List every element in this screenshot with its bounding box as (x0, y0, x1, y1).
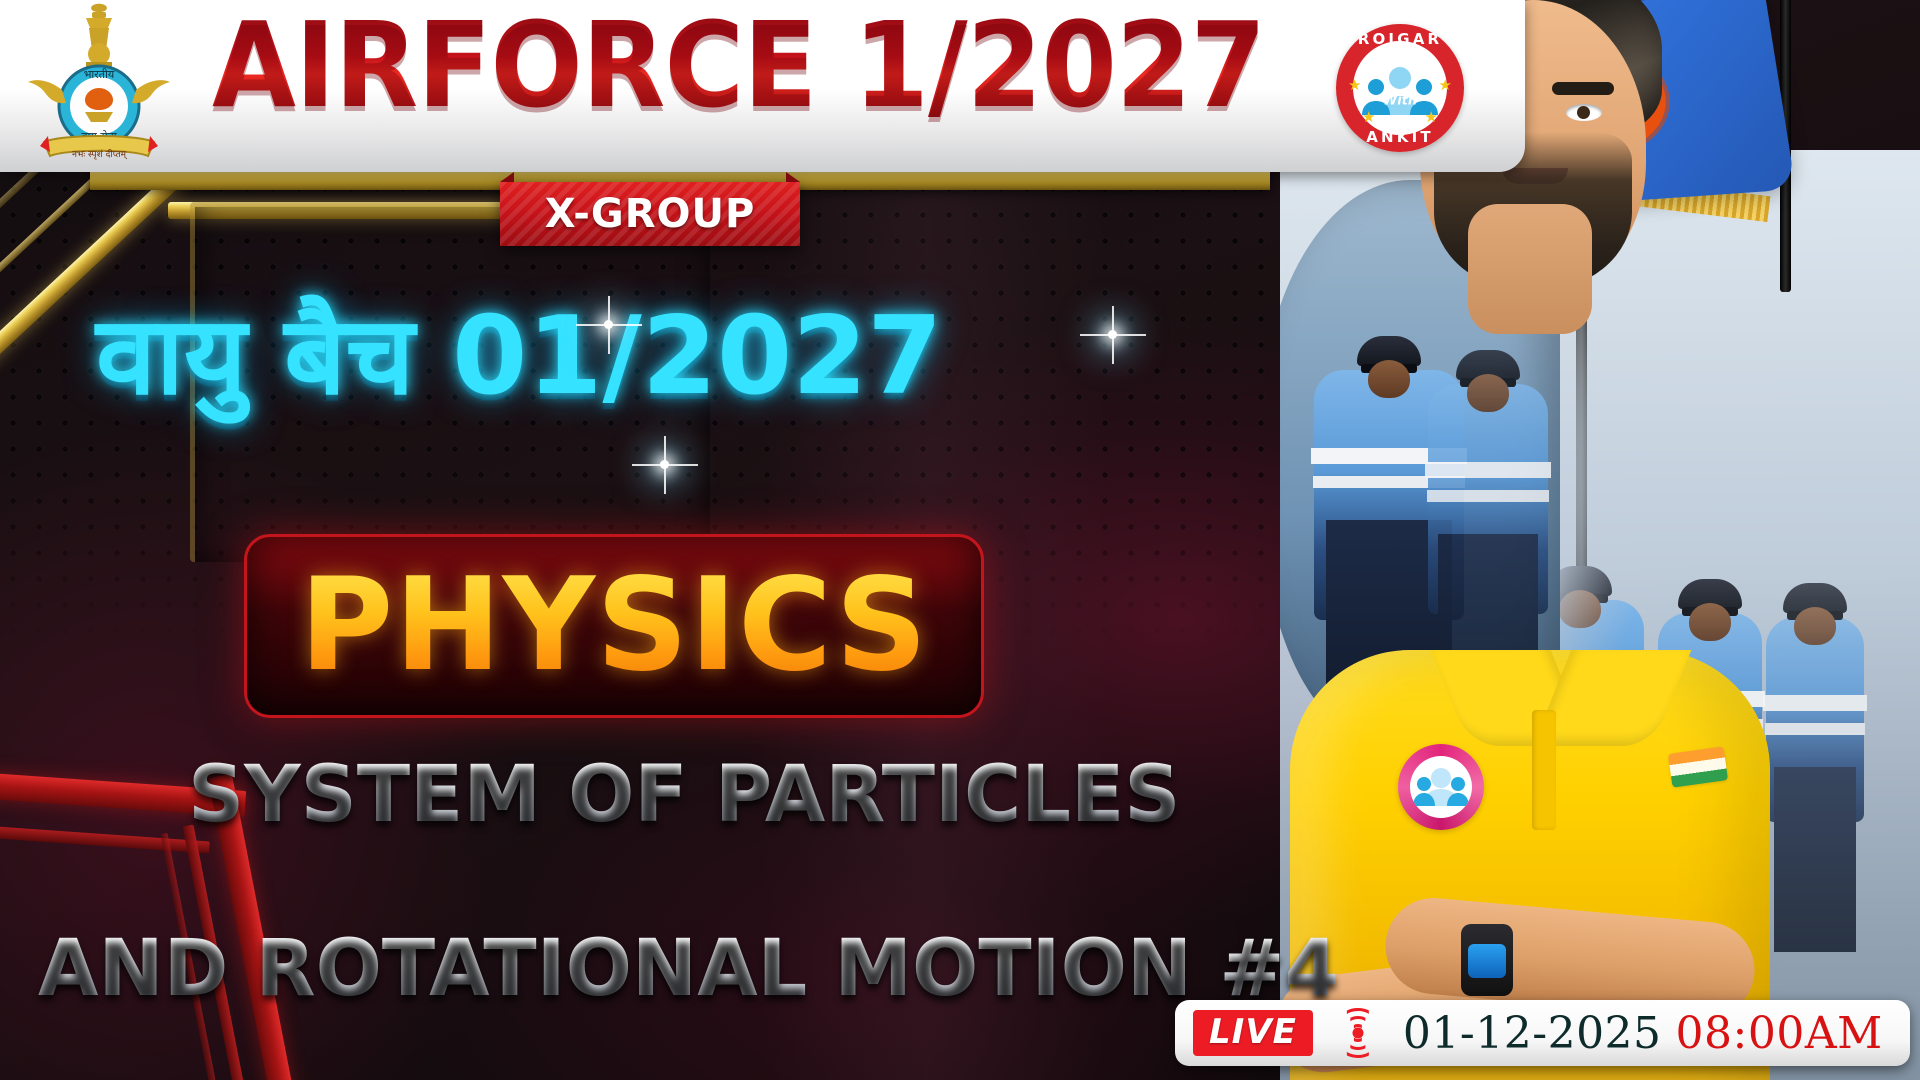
header-bar: भारतीय वायु सेना नभः स्पृशं दीप्तम् AIRF… (0, 0, 1525, 172)
presenter-photo (1270, 250, 1790, 1080)
rojgar-with-ankit-logo-icon[interactable]: ROJGAR ANKIT ★ ★ ★ ★ With (1336, 24, 1464, 152)
live-info-bar: LIVE 01-12-2025 08:00AM (1175, 1000, 1910, 1066)
brand-top-text: ROJGAR (1336, 30, 1464, 48)
indian-air-force-crest-icon: भारतीय वायु सेना नभः स्पृशं दीप्तम् (26, 2, 172, 166)
rojgar-with-ankit-badge-icon (1398, 744, 1484, 830)
thumbnail-canvas: भारतीय वायु सेना नभः स्पृशं दीप्तम् AIRF… (0, 0, 1920, 1080)
brand-bottom-text: ANKIT (1336, 128, 1464, 146)
india-tricolor-patch-icon (1668, 746, 1728, 787)
live-date: 01-12-2025 (1403, 1008, 1662, 1059)
subject-banner: PHYSICS (244, 534, 984, 718)
sparkle-icon (604, 320, 613, 329)
brand-middle-text: With (1383, 93, 1417, 108)
topic-line-2: AND ROTATIONAL MOTION #4 (38, 930, 1339, 1008)
subject-label: PHYSICS (300, 562, 929, 690)
sparkle-icon (1108, 330, 1117, 339)
x-group-label: X-GROUP (545, 191, 756, 237)
svg-text:नभः स्पृशं दीप्तम्: नभः स्पृशं दीप्तम् (72, 148, 128, 160)
page-title: AIRFORCE 1/2027 (212, 6, 1265, 124)
batch-title: वायु बैच 01/2027 (96, 300, 942, 413)
wrist-watch (1461, 924, 1513, 996)
live-time: 08:00AM (1676, 1008, 1883, 1059)
sparkle-icon (660, 460, 669, 469)
svg-text:भारतीय: भारतीय (84, 68, 115, 81)
x-group-ribbon: X-GROUP (500, 182, 800, 246)
topic-line-1: SYSTEM OF PARTICLES (188, 756, 1180, 834)
broadcast-waves-icon (1327, 1011, 1389, 1055)
live-badge: LIVE (1193, 1010, 1313, 1056)
